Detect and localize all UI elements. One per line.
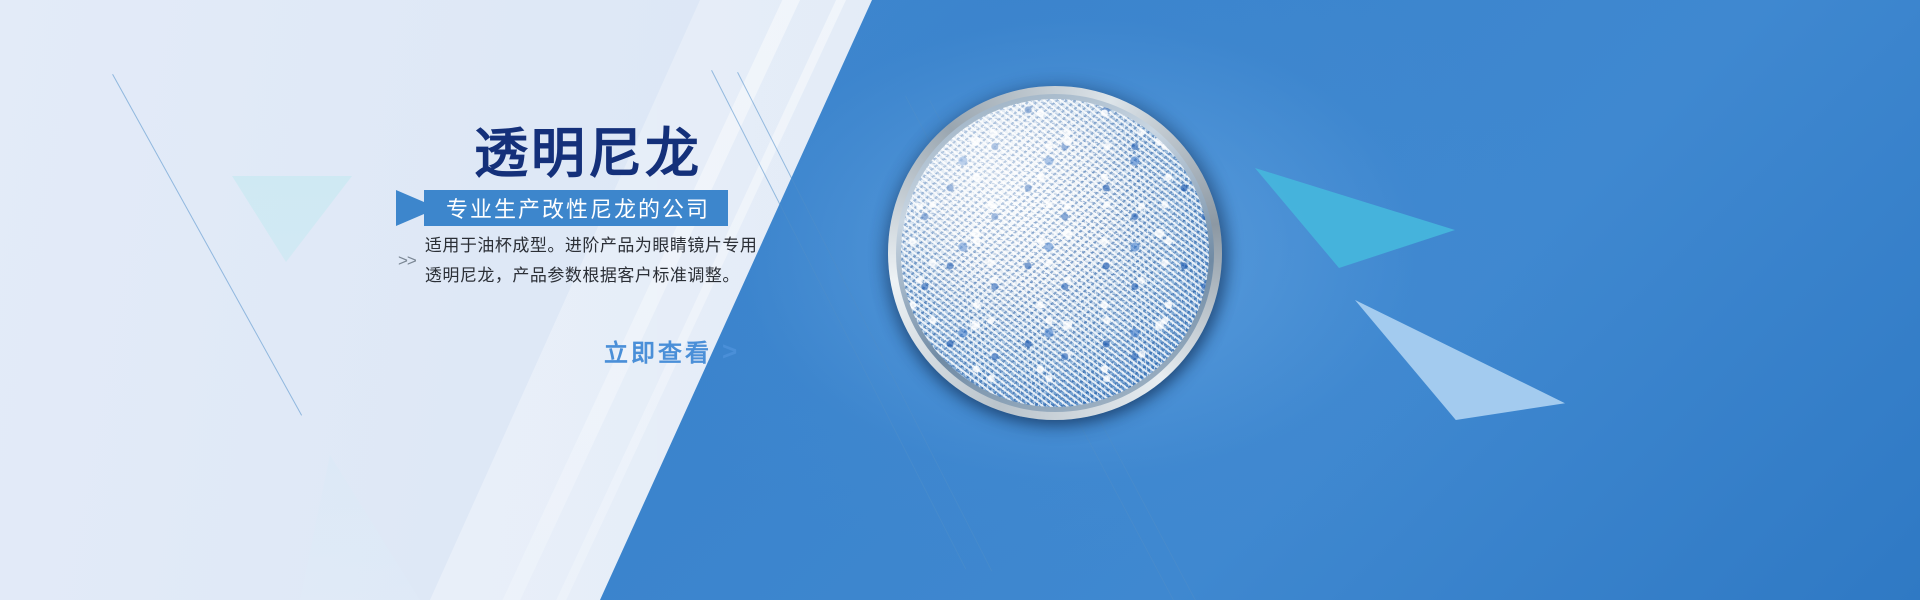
hero-banner: 透明尼龙 专业生产改性尼龙的公司 >> 适用于油杯成型。进阶产品为眼睛镜片专用 … <box>0 0 1920 600</box>
view-now-label: 立即查看 <box>604 333 712 368</box>
chevron-double-right-icon: >> <box>398 251 416 271</box>
banner-content: 透明尼龙 专业生产改性尼龙的公司 >> 适用于油杯成型。进阶产品为眼睛镜片专用 … <box>0 0 900 600</box>
description-line-1: 适用于油杯成型。进阶产品为眼睛镜片专用 <box>425 231 758 261</box>
banner-description: >> 适用于油杯成型。进阶产品为眼睛镜片专用 透明尼龙，产品参数根据客户标准调整… <box>398 231 757 291</box>
description-lines: 适用于油杯成型。进阶产品为眼睛镜片专用 透明尼龙，产品参数根据客户标准调整。 <box>425 231 758 291</box>
product-image-petri-dish <box>888 86 1222 420</box>
view-now-button[interactable]: 立即查看 > <box>604 333 740 368</box>
chevron-right-icon: > <box>722 338 740 364</box>
nylon-granule-speckles <box>901 99 1209 407</box>
banner-title: 透明尼龙 <box>474 124 702 184</box>
ribbon-label: 专业生产改性尼龙的公司 <box>446 192 710 224</box>
dish-contents <box>901 99 1209 407</box>
description-line-2: 透明尼龙，产品参数根据客户标准调整。 <box>425 261 758 291</box>
ribbon-body: 专业生产改性尼龙的公司 <box>424 190 728 226</box>
